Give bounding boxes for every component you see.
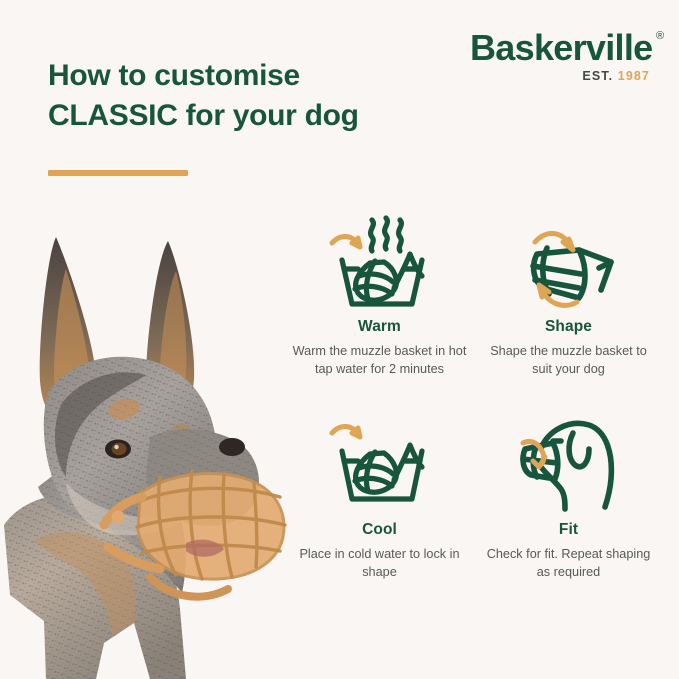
page-title-line-1: How to customise [48, 56, 428, 96]
step-cool: Cool Place in cold water to lock in shap… [288, 413, 471, 610]
title-underline-rule [48, 170, 188, 176]
brand-wordmark-text: Baskerville [470, 27, 652, 68]
fit-dog-head-icon [517, 413, 621, 513]
page-title: How to customise CLASSIC for your dog [48, 56, 428, 135]
steps-grid: Warm Warm the muzzle basket in hot tap w… [288, 210, 660, 610]
step-description: Shape the muzzle basket to suit your dog [481, 342, 656, 378]
shape-muzzle-icon [517, 210, 621, 310]
established-label: EST. [582, 69, 613, 83]
step-warm: Warm Warm the muzzle basket in hot tap w… [288, 210, 471, 407]
registered-trademark-icon: ® [656, 31, 663, 42]
step-title: Cool [362, 521, 397, 539]
brand-wordmark: Baskerville® [470, 30, 652, 66]
step-description: Check for fit. Repeat shaping as require… [481, 545, 656, 581]
step-title: Shape [545, 318, 592, 336]
instruction-graphic-page: Baskerville® EST. 1987 How to customise … [0, 0, 679, 679]
step-description: Place in cold water to lock in shape [292, 545, 467, 581]
brand-established-line: EST. 1987 [470, 70, 650, 83]
cool-basin-icon [328, 413, 432, 513]
page-title-line-2: CLASSIC for your dog [48, 96, 428, 136]
step-fit: Fit Check for fit. Repeat shaping as req… [477, 413, 660, 610]
step-title: Warm [358, 318, 401, 336]
brand-logo: Baskerville® EST. 1987 [470, 30, 650, 83]
step-title: Fit [559, 521, 578, 539]
dog-product-photo [0, 225, 290, 679]
warm-basin-icon [328, 210, 432, 310]
step-description: Warm the muzzle basket in hot tap water … [292, 342, 467, 378]
established-year: 1987 [618, 69, 650, 83]
step-shape: Shape Shape the muzzle basket to suit yo… [477, 210, 660, 407]
